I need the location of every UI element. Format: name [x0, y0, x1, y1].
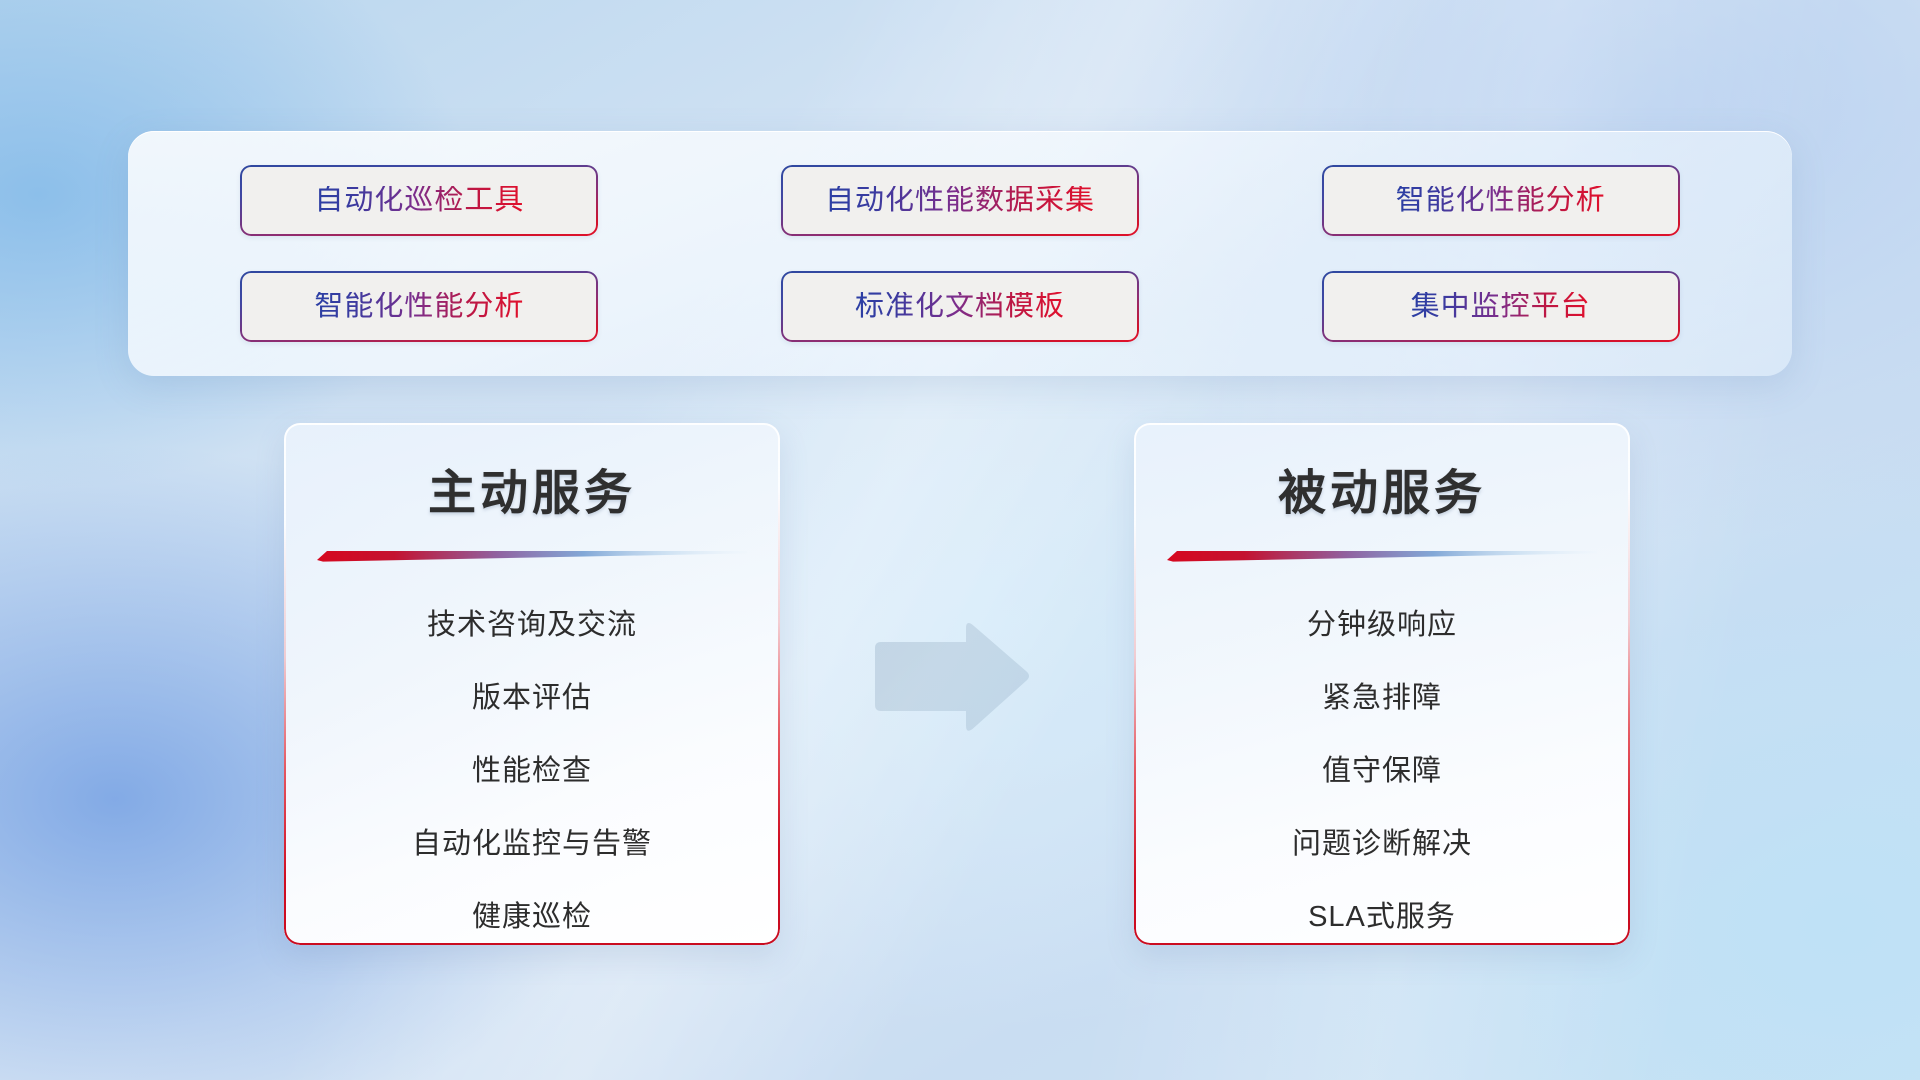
list-item: 技术咨询及交流: [284, 589, 780, 662]
capability-tags-panel: 自动化巡检工具 自动化性能数据采集 智能化性能分析 智能化性能分析 标准化文档模…: [128, 131, 1792, 376]
active-service-card: 主动服务 技术咨询及交流 版本评估 性能检查 自动化监控与告警 健康巡检: [284, 423, 780, 945]
list-item: 紧急排障: [1134, 662, 1630, 735]
list-item: 健康巡检: [284, 881, 780, 945]
capability-tag-label: 智能化性能分析: [1396, 186, 1606, 215]
list-item: 版本评估: [284, 662, 780, 735]
capability-tag-label: 智能化性能分析: [314, 292, 524, 321]
capability-tag[interactable]: 自动化巡检工具: [240, 165, 598, 236]
title-divider-passive: [1167, 549, 1597, 563]
capability-tag-label: 自动化巡检工具: [314, 186, 524, 215]
capability-tag[interactable]: 自动化性能数据采集: [781, 165, 1139, 236]
capability-tag-label: 集中监控平台: [1411, 292, 1591, 321]
active-service-title: 主动服务: [284, 453, 780, 523]
capability-tag-label: 自动化性能数据采集: [825, 186, 1095, 215]
capability-tag[interactable]: 智能化性能分析: [1322, 165, 1680, 236]
capability-tag[interactable]: 集中监控平台: [1322, 271, 1680, 342]
passive-service-list: 分钟级响应 紧急排障 值守保障 问题诊断解决 SLA式服务: [1134, 589, 1630, 945]
list-item: 分钟级响应: [1134, 589, 1630, 662]
list-item: 性能检查: [284, 735, 780, 808]
title-divider-active: [317, 549, 747, 563]
capability-tag-label: 标准化文档模板: [855, 292, 1065, 321]
passive-service-card: 被动服务 分钟级响应 紧急排障 值守保障 问题诊断解决 SLA式服务: [1134, 423, 1630, 945]
active-service-list: 技术咨询及交流 版本评估 性能检查 自动化监控与告警 健康巡检: [284, 589, 780, 945]
list-item: 自动化监控与告警: [284, 808, 780, 881]
capability-tag[interactable]: 智能化性能分析: [240, 271, 598, 342]
passive-service-title: 被动服务: [1134, 453, 1630, 523]
list-item: SLA式服务: [1134, 881, 1630, 945]
list-item: 值守保障: [1134, 735, 1630, 808]
list-item: 问题诊断解决: [1134, 808, 1630, 881]
capability-tag[interactable]: 标准化文档模板: [781, 271, 1139, 342]
arrow-right-icon: [873, 620, 1031, 734]
